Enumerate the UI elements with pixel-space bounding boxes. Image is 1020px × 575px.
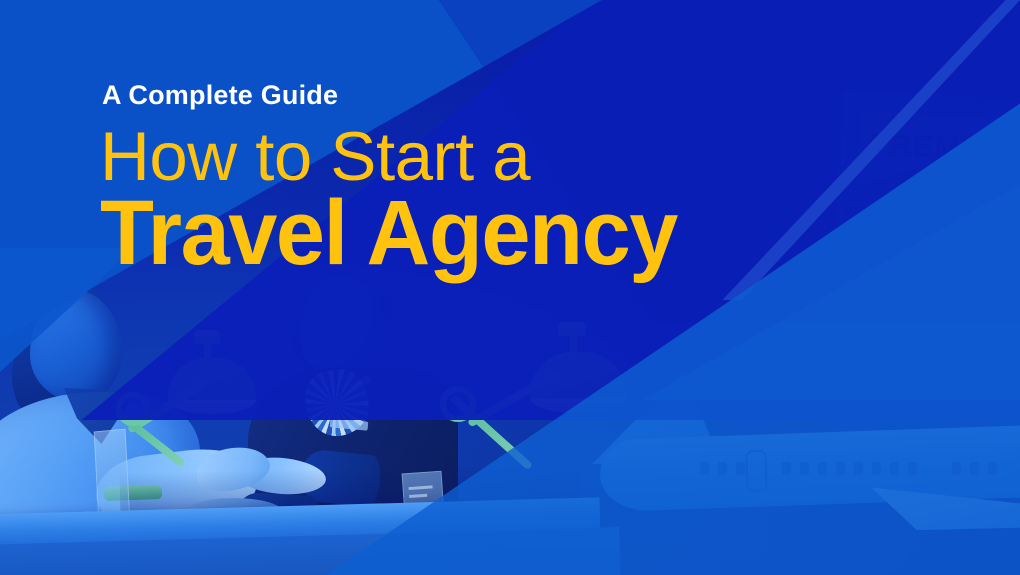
headline-line-two: Travel Agency — [100, 190, 677, 276]
brochure-text-line — [409, 494, 427, 498]
airplane-window — [908, 462, 917, 475]
travel-agency-banner: PREMIUM ✈ AIR — [0, 0, 1020, 575]
premium-sign: PREMIUM — [856, 111, 1020, 196]
airplane-door — [745, 450, 767, 493]
airplane-window — [700, 462, 709, 475]
desk-lamp-right-hinge — [440, 386, 476, 422]
airplane-window — [890, 462, 899, 475]
desk-lamp-left-hinge — [116, 392, 150, 426]
airplane-window — [872, 462, 881, 475]
airplane-window — [952, 462, 961, 475]
airplane-window — [736, 462, 745, 475]
brochure-stand-left — [94, 429, 131, 524]
kicker-text: A Complete Guide — [102, 82, 701, 109]
airplane-window — [970, 462, 979, 475]
premium-sign-label: PREMIUM — [867, 127, 1020, 170]
wall-divider-line — [836, 202, 1020, 216]
headline-line-one: How to Start a — [100, 125, 701, 188]
airplane-window — [836, 462, 845, 475]
airline-sign-label: AIR — [917, 250, 967, 284]
airplane-icon: ✈ — [870, 250, 905, 289]
airplane-window — [782, 462, 791, 475]
airline-sign: ✈ AIR — [859, 213, 1020, 323]
brochure-text-line — [409, 485, 433, 490]
airplane-window — [854, 462, 863, 475]
airplane-window — [718, 462, 727, 475]
headline-block: A Complete Guide How to Start a Travel A… — [100, 82, 701, 277]
airplane-window — [800, 462, 809, 475]
travel-agent-lapel-pin — [362, 376, 371, 385]
airplane-window — [818, 462, 827, 475]
airplane-shading — [990, 446, 1020, 486]
